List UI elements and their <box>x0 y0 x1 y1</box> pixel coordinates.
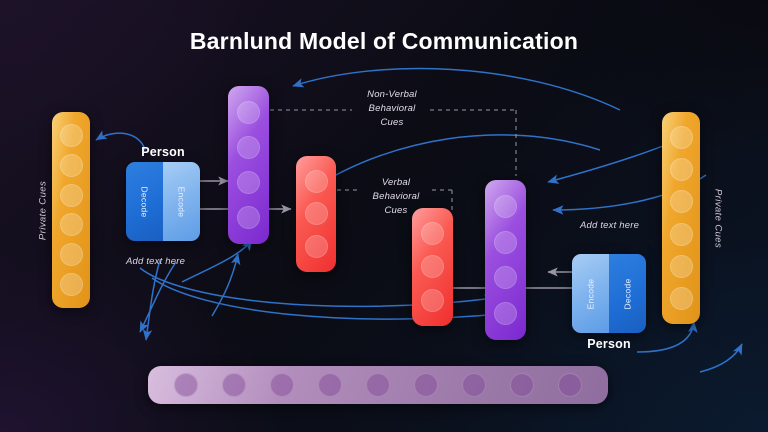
cue-dot <box>670 255 693 278</box>
verbal-cues-line-1: Verbal <box>358 176 434 190</box>
diagram-canvas: Barnlund Model of Communication <box>0 0 768 432</box>
cue-dot <box>60 184 83 207</box>
cue-dot <box>60 273 83 296</box>
cue-dot <box>462 373 486 397</box>
cue-dot <box>494 302 517 325</box>
cue-dot <box>318 373 342 397</box>
cue-dot <box>237 101 260 124</box>
cue-dot <box>305 170 328 193</box>
cue-dot <box>237 136 260 159</box>
encode-half-left[interactable]: Encode <box>163 162 200 241</box>
cue-dot <box>494 195 517 218</box>
public-cues-bar-right[interactable] <box>485 180 526 340</box>
non-verbal-cues-label: Non-Verbal Behavioral Cues <box>352 88 432 129</box>
verbal-cues-line-3: Cues <box>358 204 434 218</box>
encode-label-right: Encode <box>585 278 595 309</box>
cue-dot <box>174 373 198 397</box>
private-cues-label-right: Private Cues <box>713 189 724 249</box>
cue-dot <box>237 206 260 229</box>
cue-dot <box>60 124 83 147</box>
private-cues-bar-right[interactable] <box>662 112 700 324</box>
cue-dot <box>558 373 582 397</box>
verbal-cues-label: Verbal Behavioral Cues <box>358 176 434 217</box>
decode-label-right: Decode <box>622 278 632 309</box>
cue-dot <box>60 154 83 177</box>
cue-dot <box>670 158 693 181</box>
cue-dot <box>670 126 693 149</box>
non-verbal-cues-line-2: Behavioral <box>352 102 432 116</box>
decode-label-left: Decode <box>139 186 149 217</box>
cue-dot <box>270 373 294 397</box>
cue-dot <box>305 202 328 225</box>
person-group-right: Encode Decode Person <box>572 254 646 351</box>
cue-dot <box>670 223 693 246</box>
cue-dot <box>60 243 83 266</box>
encode-half-right[interactable]: Encode <box>572 254 609 333</box>
person-box-left[interactable]: Decode Encode <box>126 162 200 241</box>
cue-dot <box>494 266 517 289</box>
encode-label-left: Encode <box>176 186 186 217</box>
cue-dot <box>421 255 444 278</box>
cue-dot <box>510 373 534 397</box>
add-text-note-right[interactable]: Add text here <box>580 220 639 231</box>
person-group-left: Person Decode Encode <box>126 145 200 241</box>
non-verbal-cues-line-1: Non-Verbal <box>352 88 432 102</box>
cue-dot <box>60 213 83 236</box>
cue-dot <box>414 373 438 397</box>
private-cues-label-left: Private Cues <box>38 181 49 241</box>
cue-dot <box>305 235 328 258</box>
public-cues-bar-bottom[interactable] <box>148 366 608 404</box>
verbal-cues-line-2: Behavioral <box>358 190 434 204</box>
cue-dot <box>670 190 693 213</box>
cue-dot <box>494 231 517 254</box>
behavioral-cues-bar-left[interactable] <box>296 156 336 272</box>
private-cues-bar-left[interactable] <box>52 112 90 308</box>
cue-dot <box>421 289 444 312</box>
cue-dot <box>237 171 260 194</box>
decode-half-right[interactable]: Decode <box>609 254 646 333</box>
cue-dot <box>670 287 693 310</box>
add-text-note-left[interactable]: Add text here <box>126 256 185 267</box>
person-box-right[interactable]: Encode Decode <box>572 254 646 333</box>
non-verbal-cues-line-3: Cues <box>352 116 432 130</box>
cue-dot <box>366 373 390 397</box>
cue-dot <box>421 222 444 245</box>
public-cues-bar-left[interactable] <box>228 86 269 244</box>
behavioral-cues-bar-right[interactable] <box>412 208 453 326</box>
person-label-left: Person <box>126 145 200 159</box>
cue-dot <box>222 373 246 397</box>
person-label-right: Person <box>572 337 646 351</box>
decode-half-left[interactable]: Decode <box>126 162 163 241</box>
